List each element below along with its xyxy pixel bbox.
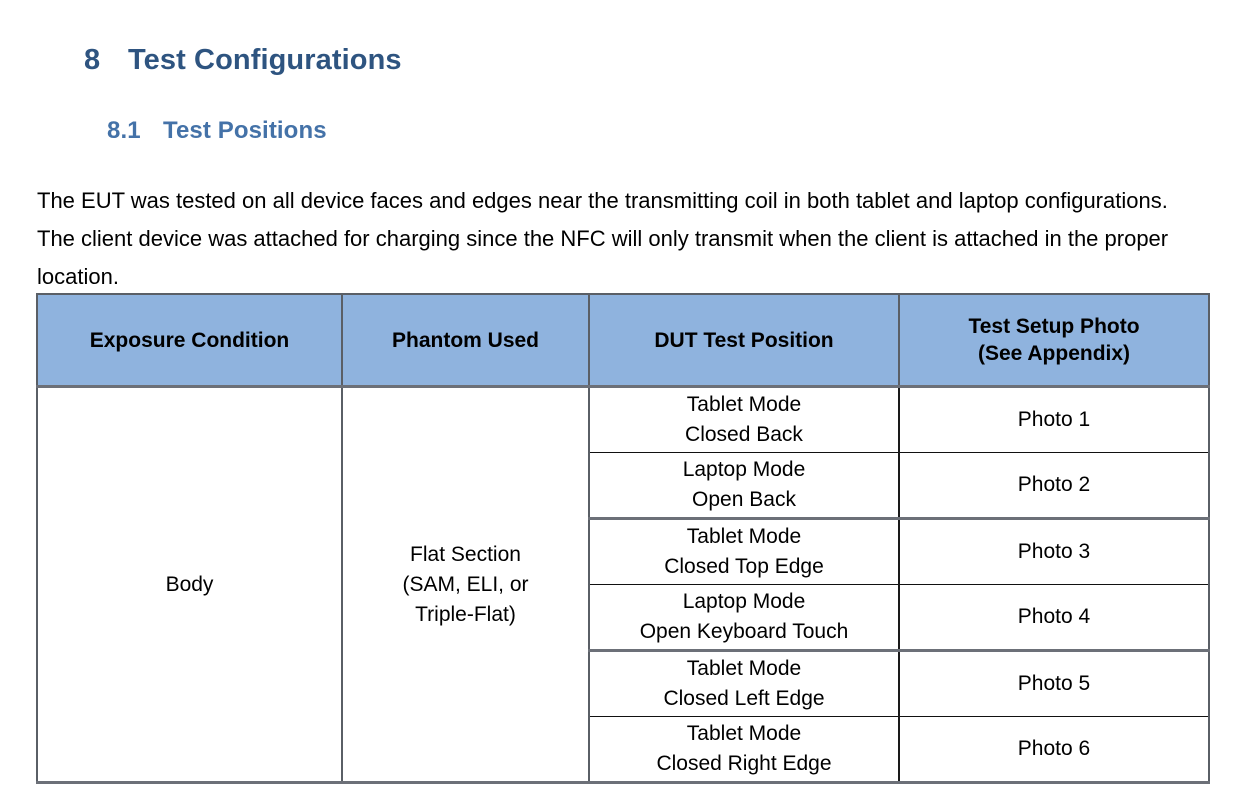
test-configurations-table: Exposure Condition Phantom Used DUT Test… — [36, 293, 1210, 784]
column-header-dut-test-position: DUT Test Position — [589, 294, 899, 387]
document-page: 8Test Configurations 8.1Test Positions T… — [0, 0, 1248, 799]
dut-position-line1: Tablet Mode — [596, 654, 892, 684]
cell-dut-test-position: Tablet Mode Closed Right Edge — [589, 717, 899, 783]
cell-dut-test-position: Tablet Mode Closed Back — [589, 387, 899, 453]
cell-dut-test-position: Laptop Mode Open Back — [589, 453, 899, 519]
column-header-photo-line1: Test Setup Photo — [906, 313, 1202, 340]
subsection-heading: 8.1Test Positions — [107, 117, 327, 145]
dut-position-line2: Closed Right Edge — [596, 749, 892, 779]
cell-dut-test-position: Tablet Mode Closed Left Edge — [589, 651, 899, 717]
column-header-test-setup-photo: Test Setup Photo (See Appendix) — [899, 294, 1209, 387]
column-header-phantom-used: Phantom Used — [342, 294, 589, 387]
phantom-used-line1: Flat Section — [349, 540, 582, 570]
dut-position-line1: Tablet Mode — [596, 522, 892, 552]
table-row: Body Flat Section (SAM, ELI, or Triple-F… — [37, 387, 1209, 453]
table-header-row: Exposure Condition Phantom Used DUT Test… — [37, 294, 1209, 387]
subsection-title: Test Positions — [163, 117, 327, 144]
section-heading: 8Test Configurations — [84, 44, 402, 77]
dut-position-line2: Open Back — [596, 485, 892, 515]
dut-position-line2: Closed Back — [596, 420, 892, 450]
cell-test-setup-photo: Photo 5 — [899, 651, 1209, 717]
cell-dut-test-position: Tablet Mode Closed Top Edge — [589, 519, 899, 585]
dut-position-line1: Tablet Mode — [596, 390, 892, 420]
cell-test-setup-photo: Photo 2 — [899, 453, 1209, 519]
cell-dut-test-position: Laptop Mode Open Keyboard Touch — [589, 585, 899, 651]
cell-phantom-used: Flat Section (SAM, ELI, or Triple-Flat) — [342, 387, 589, 783]
cell-test-setup-photo: Photo 1 — [899, 387, 1209, 453]
table-header: Exposure Condition Phantom Used DUT Test… — [37, 294, 1209, 387]
column-header-photo-line2: (See Appendix) — [906, 340, 1202, 367]
cell-test-setup-photo: Photo 4 — [899, 585, 1209, 651]
dut-position-line2: Open Keyboard Touch — [596, 617, 892, 647]
intro-paragraph: The EUT was tested on all device faces a… — [37, 182, 1202, 296]
phantom-used-line3: Triple-Flat) — [349, 600, 582, 630]
dut-position-line2: Closed Left Edge — [596, 684, 892, 714]
test-configurations-table-wrapper: Exposure Condition Phantom Used DUT Test… — [36, 293, 1208, 784]
cell-exposure-condition: Body — [37, 387, 342, 783]
dut-position-line2: Closed Top Edge — [596, 552, 892, 582]
dut-position-line1: Laptop Mode — [596, 455, 892, 485]
dut-position-line1: Tablet Mode — [596, 719, 892, 749]
table-body: Body Flat Section (SAM, ELI, or Triple-F… — [37, 387, 1209, 783]
phantom-used-line2: (SAM, ELI, or — [349, 570, 582, 600]
cell-test-setup-photo: Photo 3 — [899, 519, 1209, 585]
dut-position-line1: Laptop Mode — [596, 587, 892, 617]
cell-test-setup-photo: Photo 6 — [899, 717, 1209, 783]
column-header-exposure-condition: Exposure Condition — [37, 294, 342, 387]
subsection-number: 8.1 — [107, 117, 163, 145]
section-title: Test Configurations — [128, 44, 402, 76]
section-number: 8 — [84, 44, 128, 77]
